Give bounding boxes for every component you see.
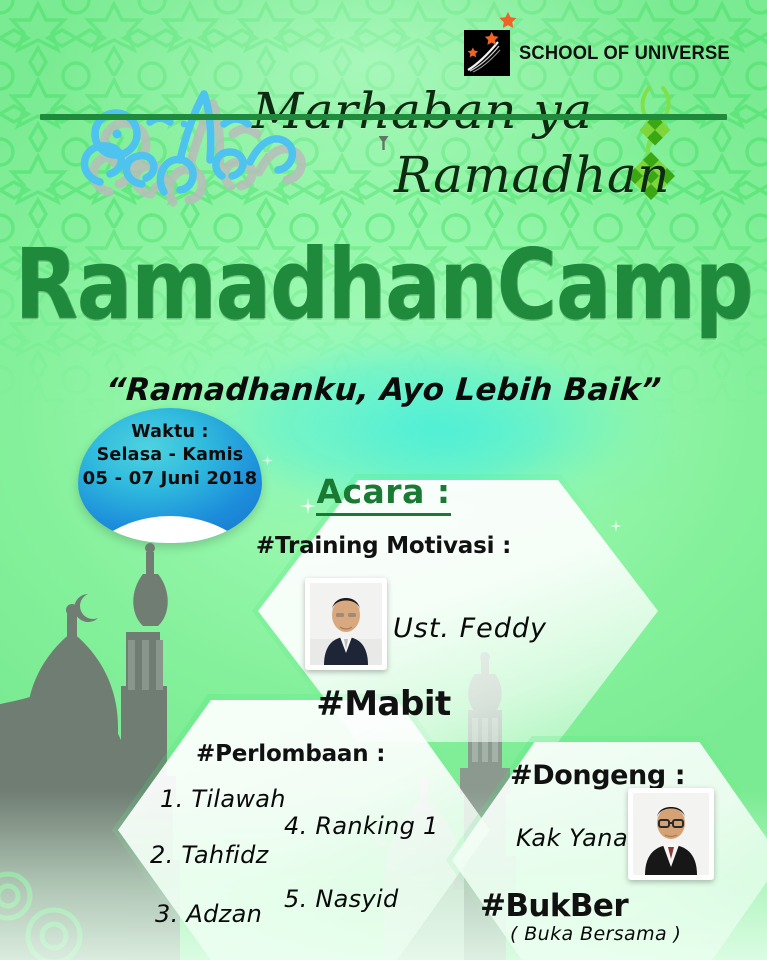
shooting-star-logo-icon [464, 30, 510, 76]
title-underline-rule [40, 114, 727, 120]
agenda-heading-text: Acara : [316, 472, 450, 516]
page-title: RamadhanCamp [15, 238, 753, 335]
perlombaan-item-5: 5. Nasyid [284, 885, 399, 913]
perlombaan-item-1: 1. Tilawah [160, 785, 286, 813]
training-speaker-name: Ust. Feddy [393, 613, 547, 644]
ramadhan-camp-poster: SCHOOL OF UNIVERSE [0, 0, 767, 960]
tagline: “Ramadhanku, Ayo Lebih Baik” [0, 372, 767, 408]
agenda-heading: Acara : [0, 472, 767, 511]
training-heading: #Training Motivasi : [0, 533, 767, 559]
dongeng-speaker-name: Kak Yana [516, 824, 628, 852]
greeting-line-1: Marhaban ya [236, 86, 676, 136]
perlombaan-item-3: 3. Adzan [155, 900, 262, 928]
bukber-heading: #BukBer [480, 888, 628, 924]
organization-name: SCHOOL OF UNIVERSE [519, 42, 730, 65]
avatar [310, 583, 382, 665]
perlombaan-item-4: 4. Ranking 1 [284, 812, 439, 840]
bukber-subtitle: ( Buka Bersama ) [510, 923, 681, 945]
date-days: Selasa - Kamis [78, 444, 262, 467]
greeting-line-2: Ramadhan [236, 150, 676, 200]
greeting-text: Marhaban ya Ramadhan [236, 86, 676, 220]
mabit-heading: #Mabit [0, 684, 767, 724]
avatar [633, 793, 709, 875]
perlombaan-item-2: 2. Tahfidz [150, 841, 269, 869]
speaker-photo-yana [628, 788, 714, 880]
dongeng-heading: #Dongeng : [510, 760, 685, 791]
perlombaan-heading: #Perlombaan : [196, 741, 385, 767]
school-of-universe-logo: SCHOOL OF UNIVERSE [464, 30, 743, 76]
main-title-wrap: RamadhanCamp [0, 238, 767, 320]
date-label: Waktu : [78, 421, 262, 444]
speaker-photo-feddy [305, 578, 387, 670]
